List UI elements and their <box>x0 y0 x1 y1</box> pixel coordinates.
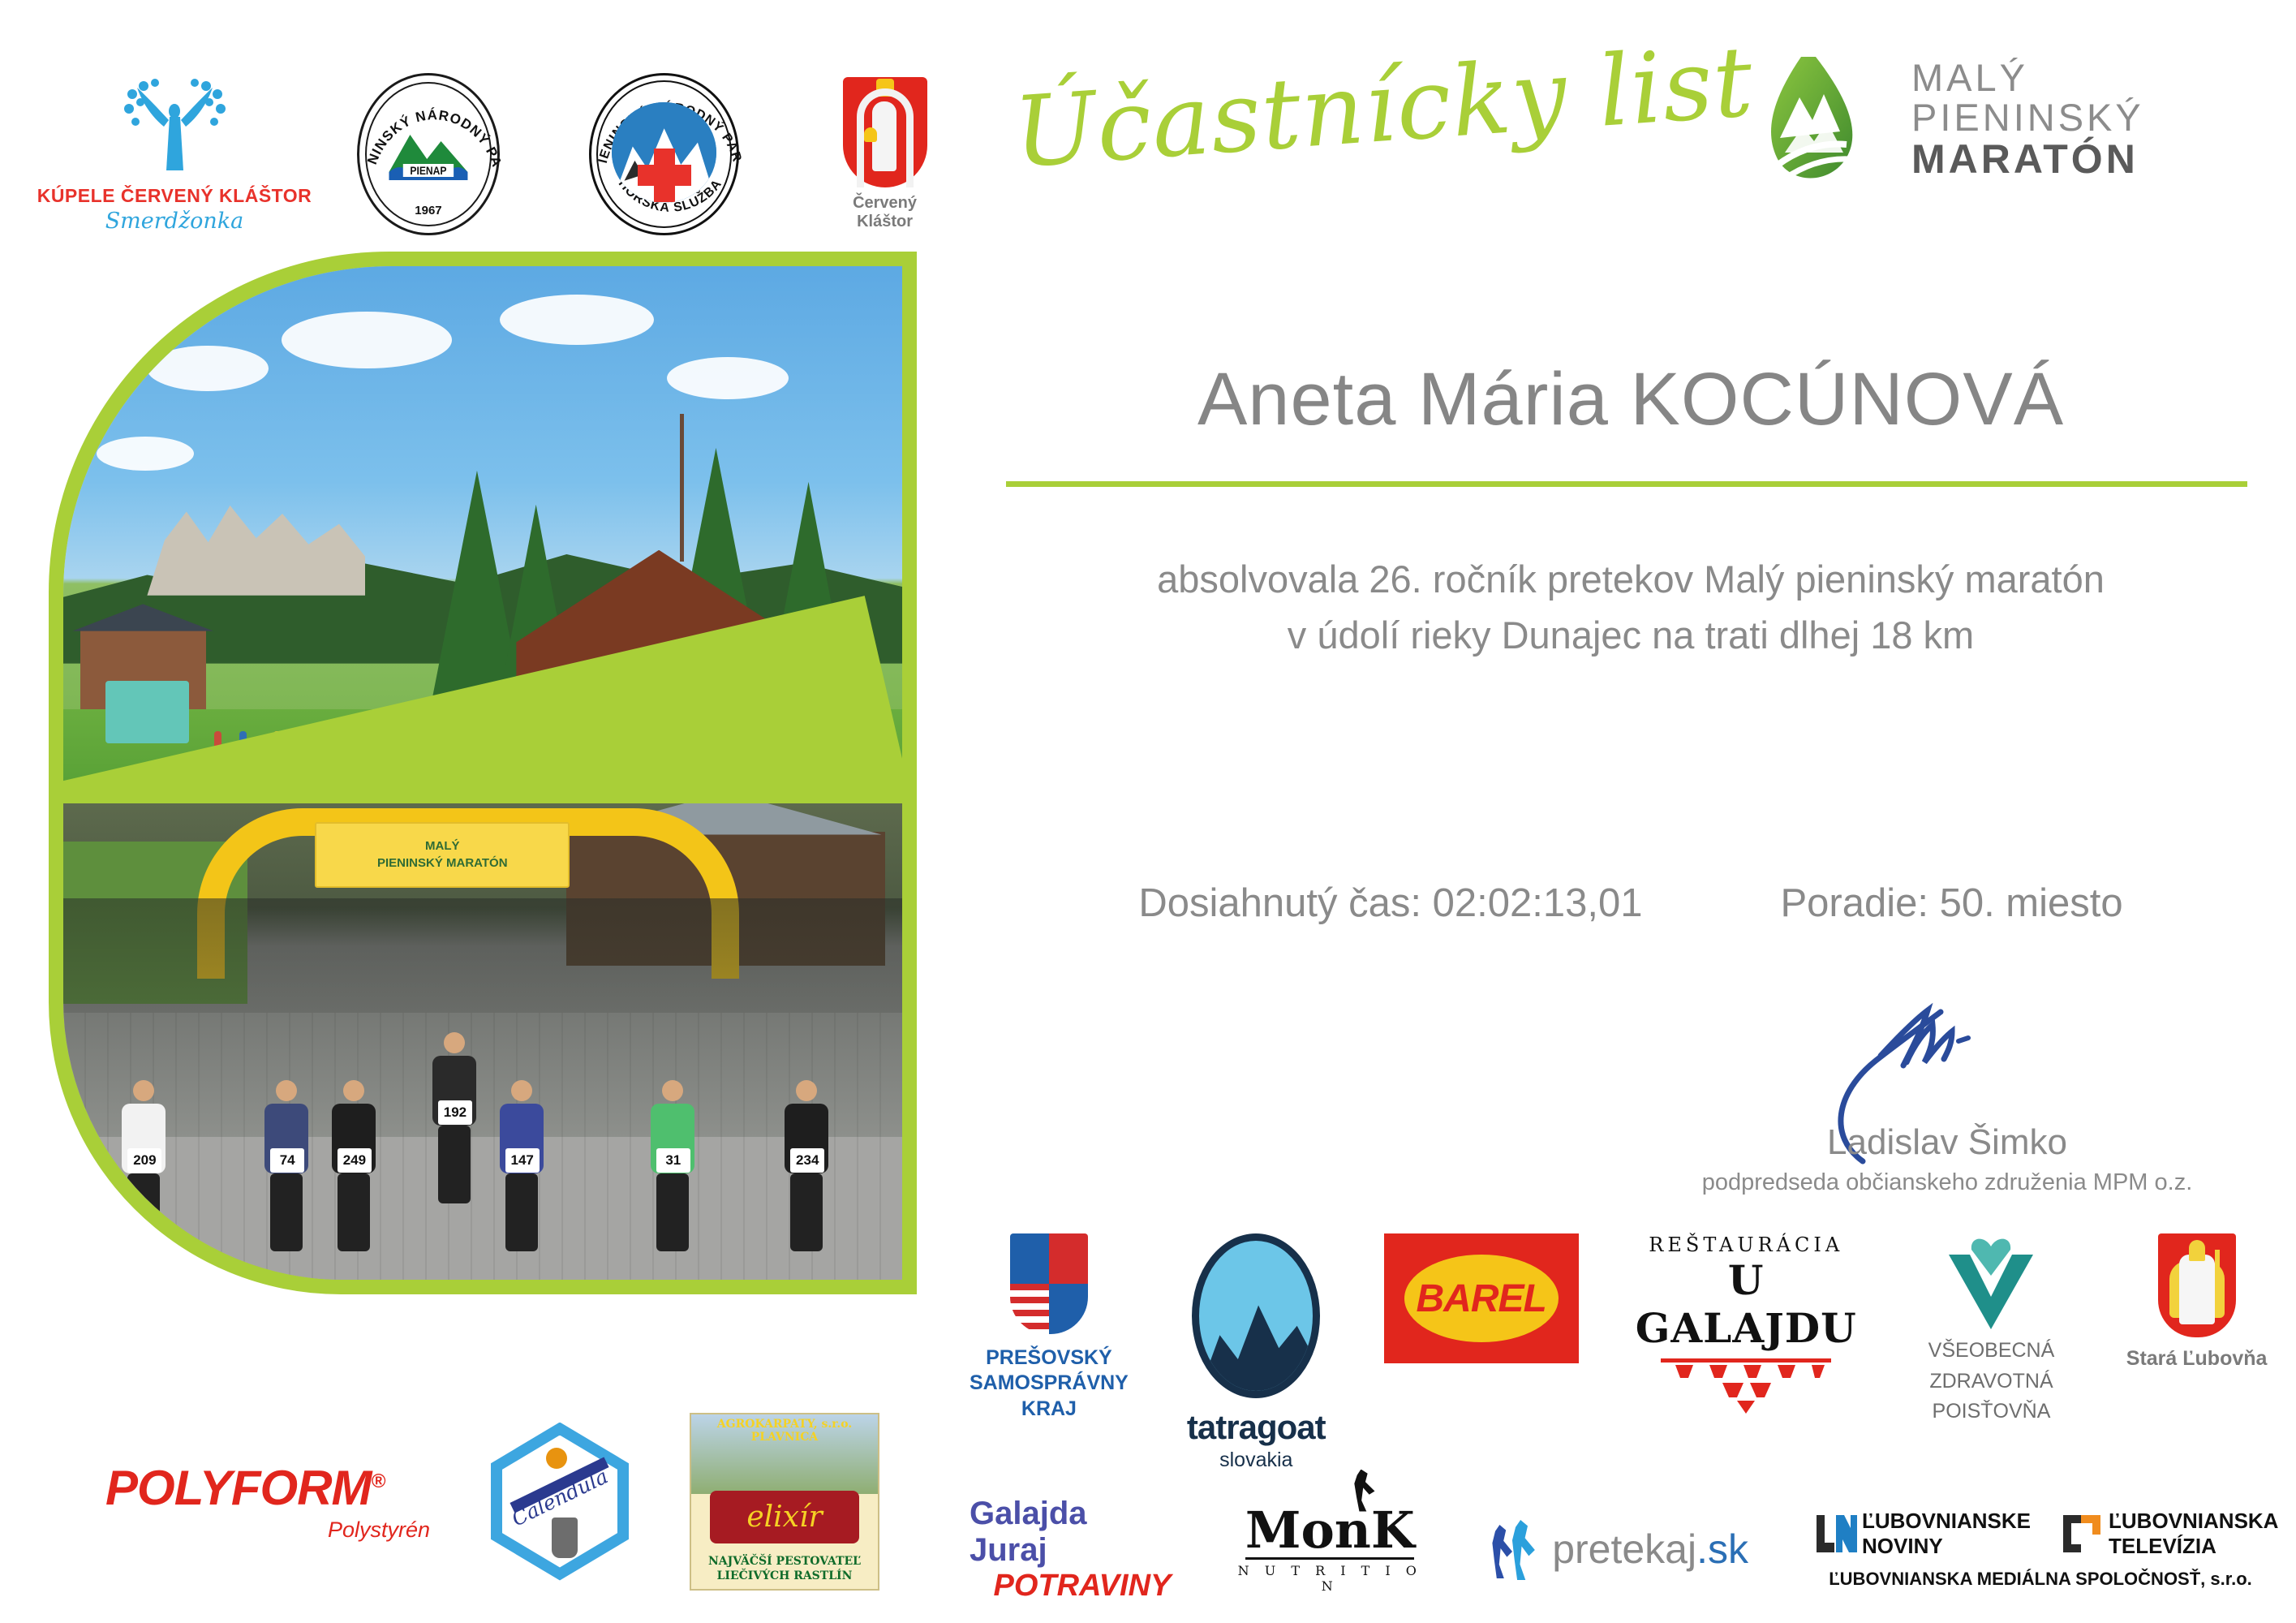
runner: 31 <box>651 1080 694 1251</box>
logo-stara-lubovna: Stará Ľubovňa <box>2126 1233 2268 1371</box>
pienap-mountain-icon: PIENAP <box>386 120 471 180</box>
vzp-caption: VŠEOBECNÁ ZDRAVOTNÁ POISŤOVŇA <box>1928 1336 2055 1427</box>
pretekaj-name: pretekaj <box>1552 1526 1696 1572</box>
logo-barel: BAREL <box>1384 1233 1579 1363</box>
logo-presovsky-samospravny-kraj: PREŠOVSKÝ SAMOSPRÁVNY KRAJ <box>970 1233 1129 1422</box>
agrokarpaty-bottom-text: NAJVÄČŠÍ PESTOVATEĽ LIEČIVÝCH RASTLÍN <box>691 1554 878 1583</box>
logo-polyform: POLYFORM® Polystyrén <box>105 1460 430 1543</box>
psk-caption: PREŠOVSKÝ SAMOSPRÁVNY KRAJ <box>970 1345 1129 1422</box>
banner-line-2: PIENINSKÝ MARATÓN <box>377 855 508 872</box>
bib-number: 147 <box>505 1148 540 1173</box>
mortar-pestle-icon <box>552 1518 578 1558</box>
certificate-line-1: absolvovala 26. ročník pretekov Malý pie… <box>998 557 2264 601</box>
kupele-subname: Smerdžonka <box>105 209 244 234</box>
runner: 74 <box>264 1080 308 1251</box>
flower-icon <box>546 1448 567 1469</box>
galajdu-name: U GALAJDU <box>1636 1256 1857 1352</box>
lubovnianska-televizia-name: ĽUBOVNIANSKA TELEVÍZIA <box>2109 1509 2278 1558</box>
galajdu-small-text: REŠTAURÁCIA <box>1649 1233 1843 1256</box>
logo-calendula: Calendula <box>491 1423 629 1581</box>
participant-name: Aneta Mária KOCÚNOVÁ <box>998 357 2264 442</box>
tv-mark-icon <box>2060 1512 2104 1556</box>
photo-frame-inner: MALÝ PIENINSKÝ MARATÓN 209 74 249 192 <box>63 266 902 1280</box>
rank-place: Poradie: 50. miesto <box>1780 880 2122 926</box>
stara-lubovna-caption: Stará Ľubovňa <box>2126 1347 2268 1371</box>
polyform-sub: Polystyrén <box>105 1518 430 1543</box>
bib-number: 74 <box>270 1148 304 1173</box>
tatragoat-sub: slovakia <box>1219 1449 1292 1472</box>
leaf-mountain-icon <box>1752 50 1890 188</box>
signature-role: podpredseda občianskeho združenia MPM o.… <box>1663 1169 2231 1196</box>
certificate-line-2: v údolí rieky Dunajec na trati dlhej 18 … <box>998 613 2264 657</box>
folk-ornament-icon <box>1653 1357 1839 1414</box>
bib-number: 249 <box>338 1148 372 1173</box>
sponsor-row-bottom-left: POLYFORM® Polystyrén Calendula AGROKARPA… <box>105 1408 982 1595</box>
bib-number: 209 <box>127 1148 161 1173</box>
accent-divider <box>1006 481 2247 487</box>
runner: 192 <box>432 1032 476 1203</box>
finish-time: Dosiahnutý čas: 02:02:13,01 <box>1138 880 1642 926</box>
lms-footer: ĽUBOVNIANSKA MEDIÁLNA SPOLOČNOSŤ, s.r.o. <box>1813 1569 2268 1590</box>
logo-kupele-cerveny-klastor: KÚPELE ČERVENÝ KLÁŠTOR Smerdžonka <box>81 75 268 234</box>
signature-block: Ladislav Šimko podpredseda občianskeho z… <box>1663 1010 2231 1196</box>
horska-mountain-icon <box>612 102 716 203</box>
bib-number: 234 <box>790 1148 824 1173</box>
arch-banner: MALÝ PIENINSKÝ MARATÓN <box>315 822 570 887</box>
pienap-inner-text: PIENAP <box>410 164 446 177</box>
logo-galajda-juraj: Galajda Juraj POTRAVINY <box>970 1496 1171 1604</box>
galajda-juraj-name: Galajda Juraj <box>970 1496 1171 1569</box>
bib-number: 192 <box>438 1100 472 1125</box>
lubovnianske-noviny-name: ĽUBOVNIANSKE NOVINY <box>1862 1509 2031 1558</box>
runner: 209 <box>122 1080 166 1251</box>
cerveny-klastor-caption: Červený Kláštor <box>828 194 941 231</box>
signature-name: Ladislav Šimko <box>1663 1122 2231 1163</box>
galajda-juraj-sub: POTRAVINY <box>970 1569 1171 1604</box>
vzp-chevron-icon <box>1934 1233 2048 1331</box>
brand-line-2: PIENINSKÝ <box>1911 98 2144 138</box>
registered-icon: ® <box>372 1470 385 1492</box>
brand-line-1: MALÝ <box>1911 58 2144 98</box>
partner-logo-strip: KÚPELE ČERVENÝ KLÁŠTOR Smerdžonka PIENIN… <box>81 57 941 252</box>
stara-lubovna-coat-of-arms <box>2158 1233 2236 1337</box>
polyform-name: POLYFORM <box>105 1461 372 1515</box>
photo-race-start: MALÝ PIENINSKÝ MARATÓN 209 74 249 192 <box>63 803 902 1280</box>
goat-mountain-icon <box>1192 1233 1320 1398</box>
logo-lubovnianska-medialna-spolocnost: ĽUBOVNIANSKE NOVINY ĽUBOVNIANSKA TELEVÍZ… <box>1813 1509 2268 1589</box>
logo-pretekaj-sk[interactable]: pretekaj.sk <box>1489 1517 1748 1582</box>
sponsor-grid-bottom-right: PREŠOVSKÝ SAMOSPRÁVNY KRAJ tatragoat slo… <box>970 1233 2268 1618</box>
runner: 234 <box>785 1080 828 1251</box>
monk-name: MonK <box>1236 1505 1424 1556</box>
logo-pienap: PIENINSKÝ NÁRODNÝ PARK PIENAP 1967 <box>357 73 500 235</box>
result-row: Dosiahnutý čas: 02:02:13,01 Poradie: 50.… <box>998 880 2264 926</box>
red-cross-bar <box>638 165 691 186</box>
logo-monk-nutrition: MonK N U T R I T I O N <box>1236 1505 1424 1594</box>
barel-name: BAREL <box>1417 1276 1546 1321</box>
photo-frame: MALÝ PIENINSKÝ MARATÓN 209 74 249 192 <box>49 252 917 1294</box>
psk-coat-of-arms <box>1010 1233 1088 1334</box>
runner: 249 <box>332 1080 376 1251</box>
tatragoat-name: tatragoat <box>1187 1408 1326 1447</box>
logo-agrokarpaty-elixir: AGROKARPATY, s.r.o. PLAVNICA elixír NAJV… <box>690 1413 879 1591</box>
logo-u-galajdu: REŠTAURÁCIA U GALAJDU <box>1636 1233 1857 1414</box>
pretekaj-tld: .sk <box>1696 1526 1748 1572</box>
certificate-body: Aneta Mária KOCÚNOVÁ absolvovala 26. roč… <box>998 357 2264 657</box>
logo-vseobecna-zdravotna-poistovna: VŠEOBECNÁ ZDRAVOTNÁ POISŤOVŇA <box>1914 1233 2069 1427</box>
cerveny-klastor-coat-of-arms <box>843 77 927 187</box>
agrokarpaty-top-text: AGROKARPATY, s.r.o. PLAVNICA <box>691 1418 878 1444</box>
elixir-word: elixír <box>746 1500 822 1534</box>
page-title: Účastnícky list <box>1010 26 1756 190</box>
angel-icon <box>108 75 242 180</box>
kupele-name: KÚPELE ČERVENÝ KLÁŠTOR <box>37 185 312 207</box>
ln-mark-icon <box>1813 1512 1857 1556</box>
brand-line-3: MARATÓN <box>1911 138 2144 180</box>
mpm-brand-logo: MALÝ PIENINSKÝ MARATÓN <box>1752 50 2144 188</box>
logo-cerveny-klastor: Červený Kláštor <box>828 77 941 231</box>
banner-line-1: MALÝ <box>425 838 460 855</box>
logo-tatragoat: tatragoat slovakia <box>1185 1233 1327 1472</box>
pienap-year: 1967 <box>357 204 500 217</box>
monk-sub: N U T R I T I O N <box>1236 1563 1424 1594</box>
bell-icon <box>864 127 877 142</box>
bib-number: 31 <box>656 1148 690 1173</box>
logo-horska-sluzba: PIENINSKÝ NÁRODNÝ PARK HORSKÁ SLUŽBA <box>589 73 739 235</box>
runner: 147 <box>500 1080 544 1251</box>
runners-icon <box>1489 1517 1541 1582</box>
